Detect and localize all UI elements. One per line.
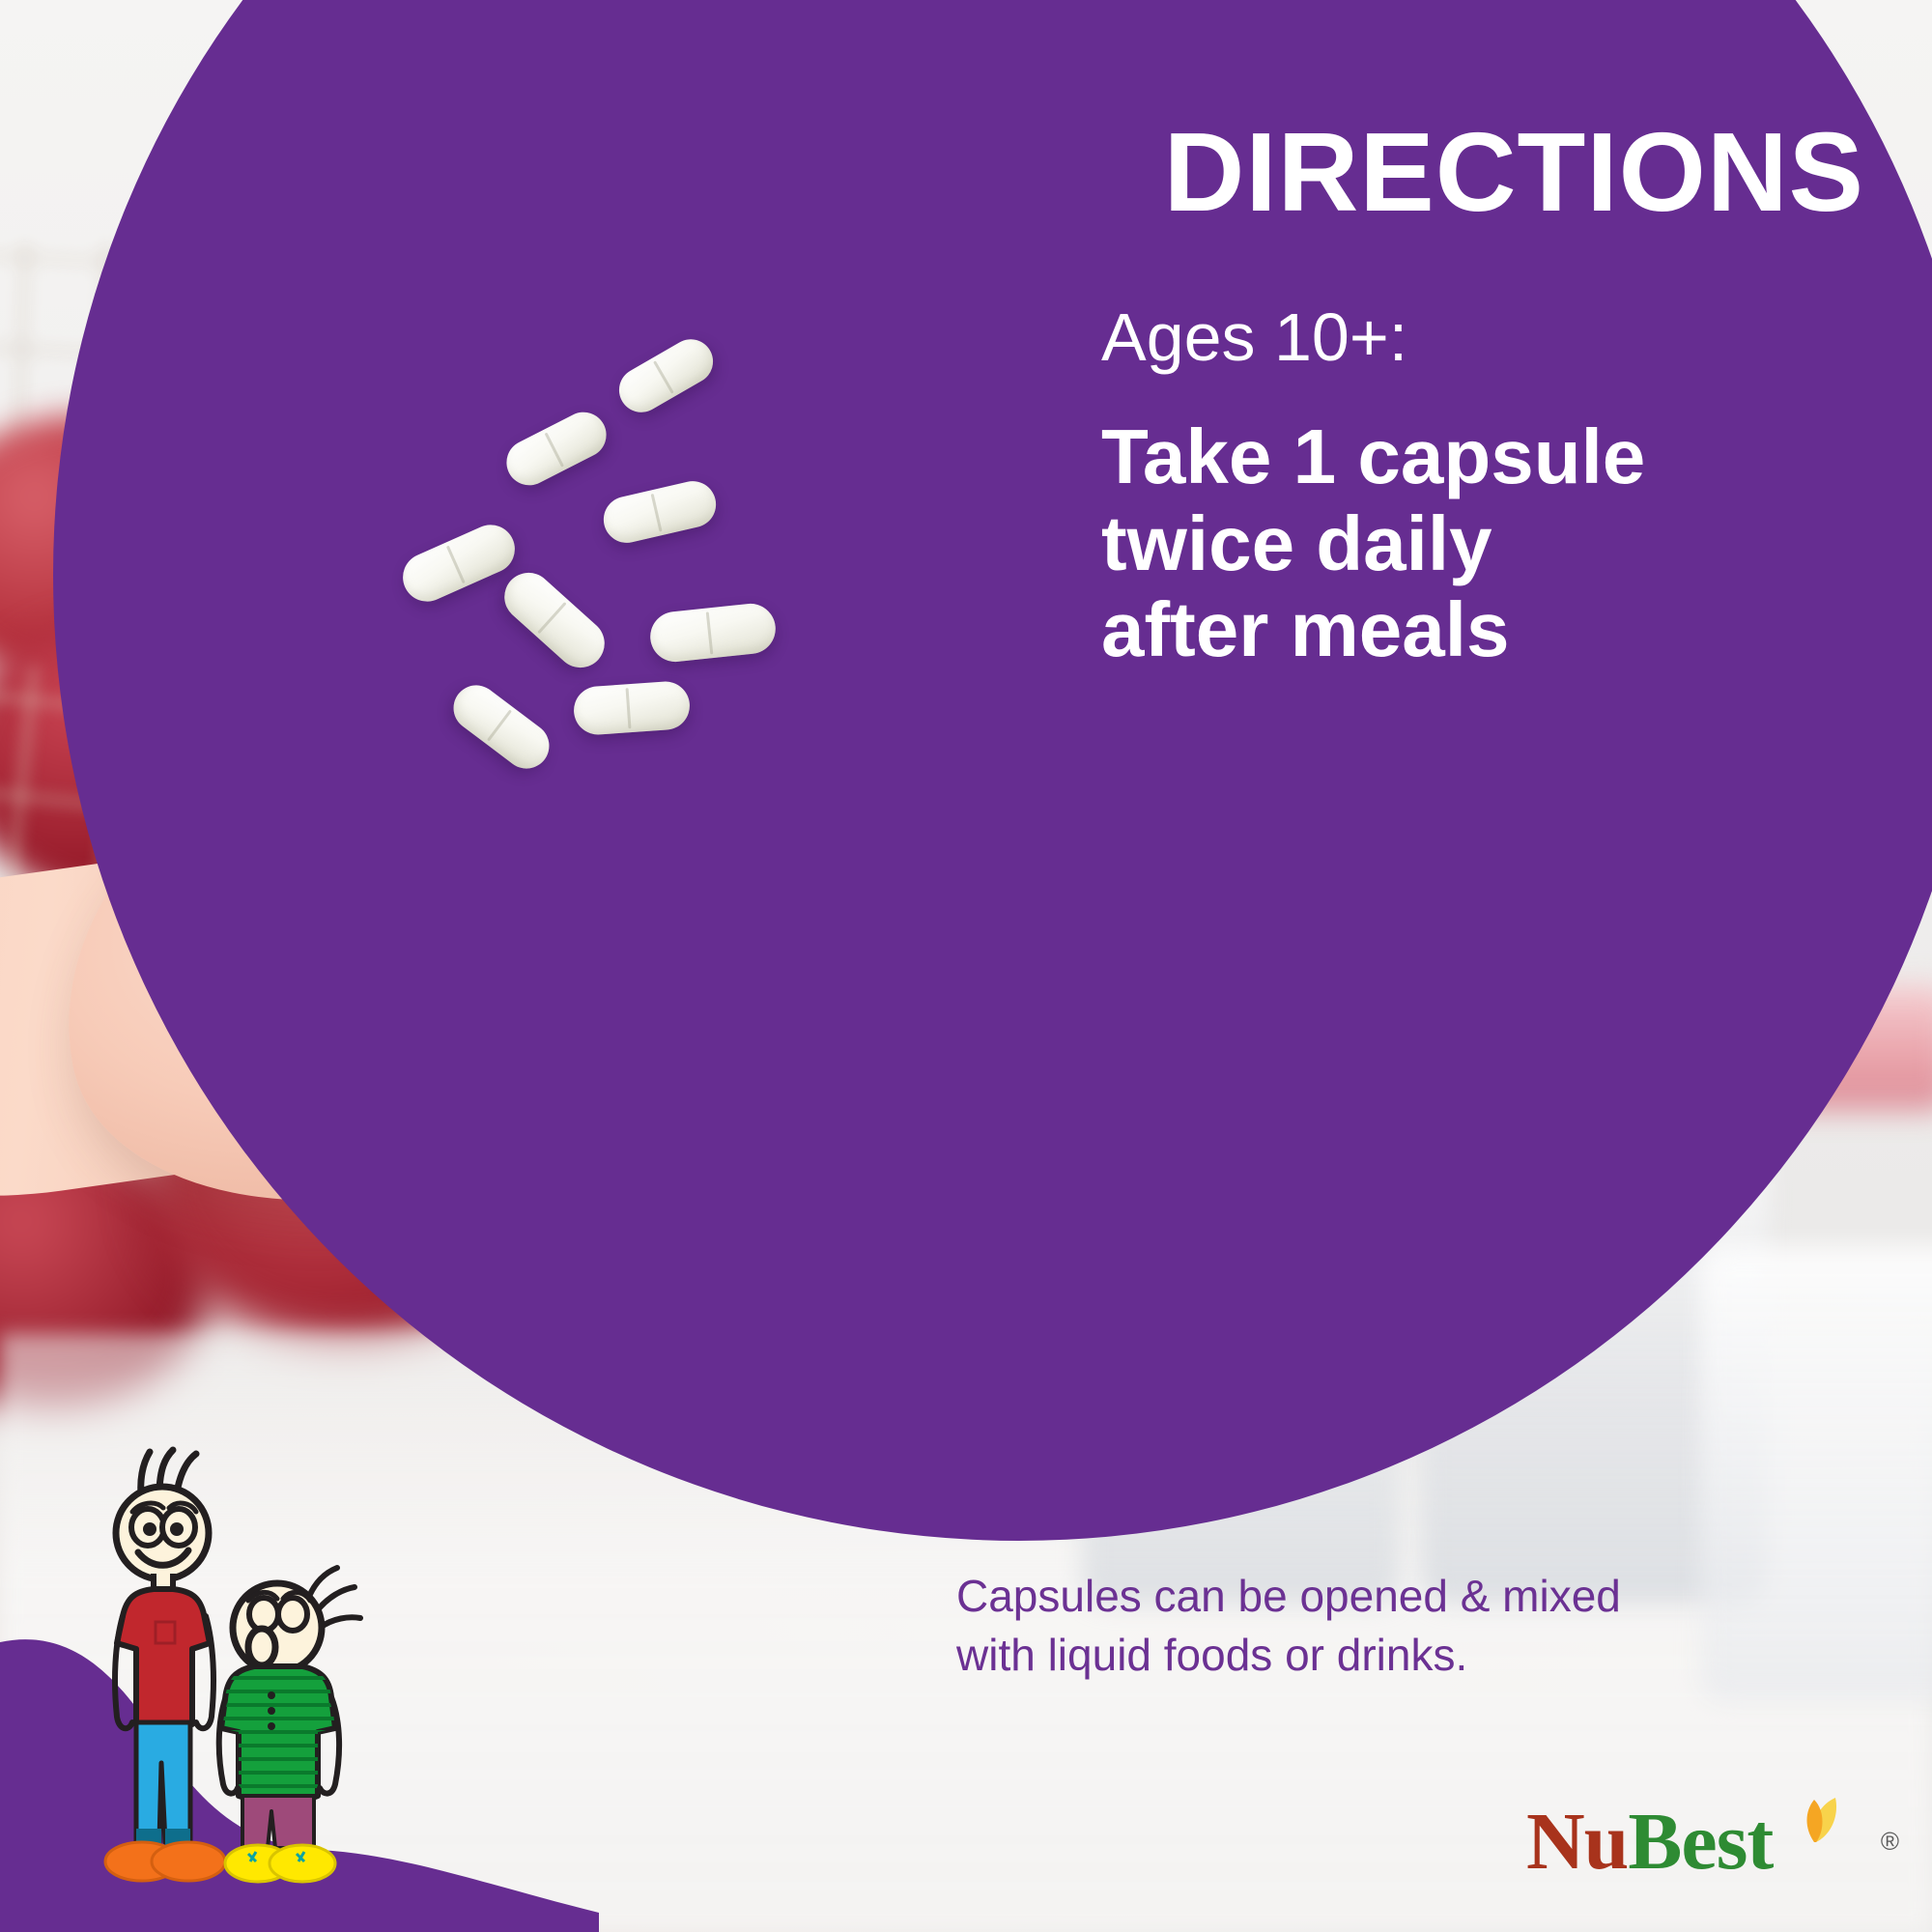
cartoon-kids-illustration [72, 1444, 391, 1932]
age-label: Ages 10+: [1101, 303, 1864, 371]
footnote-line-2: with liquid foods or drinks. [956, 1626, 1652, 1685]
registered-trademark: ® [1881, 1827, 1899, 1857]
leaf-icon [1785, 1796, 1847, 1846]
short-kid [217, 1568, 360, 1882]
directions-poster: DIRECTIONS Ages 10+: Take 1 capsule twic… [0, 0, 1932, 1932]
logo-best-text: Best [1628, 1797, 1773, 1887]
dose-line-1: Take 1 capsule [1101, 413, 1864, 500]
footnote-line-1: Capsules can be opened & mixed [956, 1567, 1652, 1626]
dose-line-3: after meals [1101, 586, 1864, 673]
nubest-logo[interactable]: NuBest ® [1526, 1802, 1893, 1908]
footnote: Capsules can be opened & mixed with liqu… [956, 1567, 1652, 1684]
logo-nu-text: Nu [1526, 1797, 1628, 1887]
glass-jar [1700, 1246, 1932, 1700]
capsule-icon [572, 680, 691, 736]
tall-kid [105, 1450, 225, 1881]
dose-instructions: Take 1 capsule twice daily after meals [1101, 413, 1864, 673]
directions-text-block: DIRECTIONS Ages 10+: Take 1 capsule twic… [1101, 116, 1864, 673]
page-title: DIRECTIONS [1101, 116, 1864, 228]
dose-line-2: twice daily [1101, 500, 1864, 587]
